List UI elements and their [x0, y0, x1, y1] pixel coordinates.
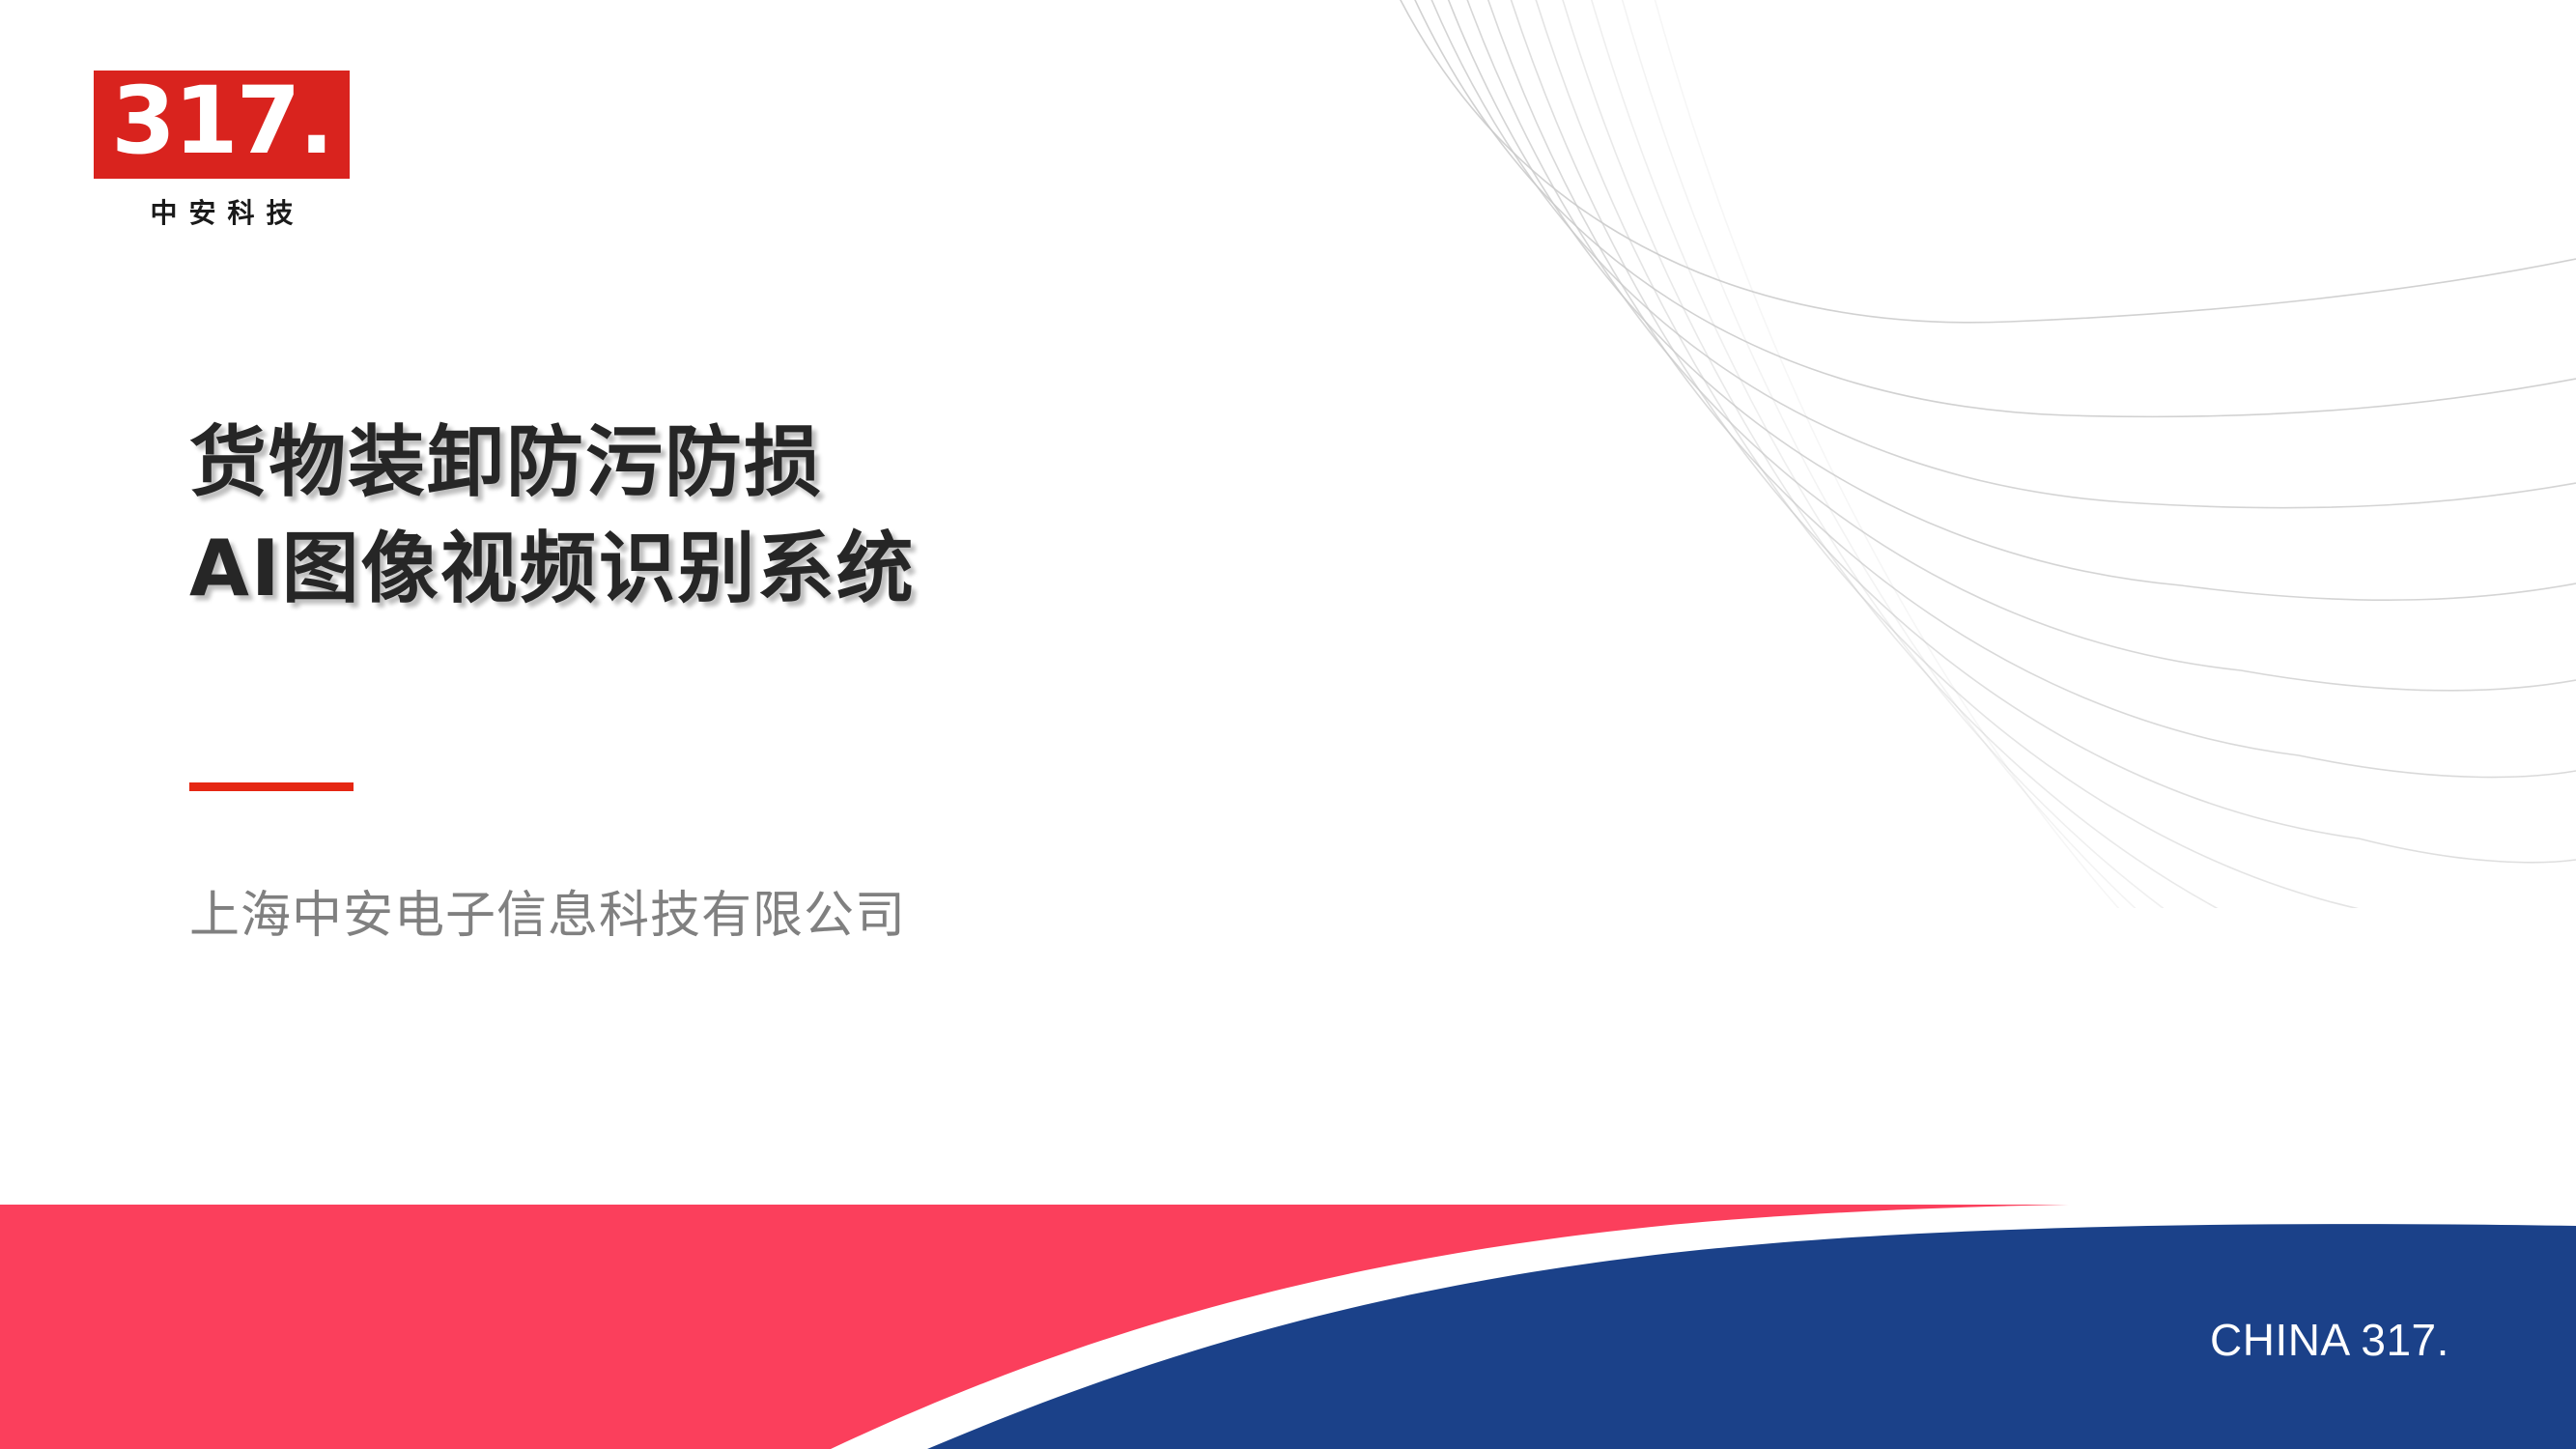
- title-line-2: AI图像视频识别系统: [189, 516, 916, 622]
- subtitle: 上海中安电子信息科技有限公司: [189, 874, 906, 947]
- banner-curve-shapes: [0, 1205, 2576, 1449]
- logo-mark-text: 317.: [111, 74, 332, 167]
- logo-mark: 317.: [94, 71, 350, 179]
- logo-subtext: 中安科技: [94, 192, 350, 231]
- banner-label: CHINA 317.: [2210, 1314, 2449, 1366]
- bottom-banner: [0, 1205, 2576, 1449]
- page-title: 货物装卸防污防损 AI图像视频识别系统: [189, 410, 916, 621]
- wave-decoration: [1333, 0, 2576, 908]
- presentation-slide: 317. 中安科技 货物装卸防污防损 AI图像视频识别系统 上海中安电子信息科技…: [0, 0, 2576, 1449]
- title-line-1: 货物装卸防污防损: [189, 410, 916, 516]
- title-divider: [189, 782, 354, 791]
- company-logo: 317. 中安科技: [94, 71, 353, 231]
